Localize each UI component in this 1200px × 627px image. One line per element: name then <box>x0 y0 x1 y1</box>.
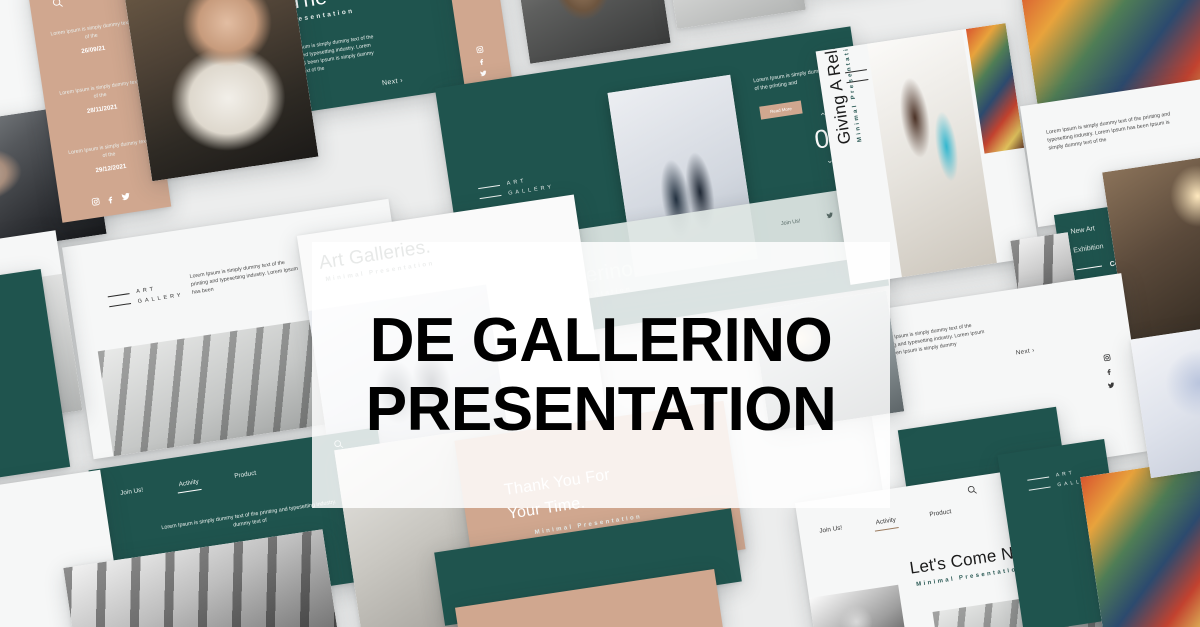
logo-line-1: ART <box>136 286 157 295</box>
social-links[interactable] <box>476 46 488 78</box>
logo-line-1: ART <box>506 178 527 187</box>
logo-rule <box>109 302 131 306</box>
twitter-icon <box>1107 381 1115 389</box>
logo-line-1: ART <box>1056 470 1076 479</box>
timeline-entry: Lorem Ipsum is simply dummy text of the … <box>57 78 144 119</box>
search-icon[interactable] <box>51 0 64 9</box>
slide-photo-bust[interactable] <box>511 0 670 64</box>
logo-art-gallery: ART GALLERY <box>107 282 184 309</box>
social-links[interactable] <box>91 192 131 207</box>
search-icon[interactable] <box>966 484 977 495</box>
nav-bar[interactable]: Join Us! Activity Product <box>120 470 257 497</box>
photo-bust-sculpture <box>511 0 670 64</box>
facebook-icon <box>1105 368 1113 376</box>
nav-item-activity[interactable]: Activity <box>875 516 896 526</box>
logo-rule <box>108 293 130 297</box>
facebook-icon <box>478 58 486 66</box>
logo-art-gallery: ART GALLERY <box>478 174 555 201</box>
twitter-icon <box>479 69 487 77</box>
active-rule <box>1076 265 1102 270</box>
title-overlay-panel: DE GALLERINO PRESENTATION <box>312 242 890 508</box>
nav-bar[interactable]: Join Us! Activity Product <box>819 508 952 535</box>
logo-rule <box>478 184 500 188</box>
logo-line-2: GALLERY <box>137 292 184 305</box>
next-arrow-icon: › <box>400 77 404 84</box>
photo-gallery-interior <box>660 0 806 29</box>
overlay-title-line-2: PRESENTATION <box>366 375 837 444</box>
timeline-entry: Lorem Ipsum is simply dummy text of the … <box>48 18 135 59</box>
slide-photo-abstract-right[interactable] <box>1130 322 1200 478</box>
next-button[interactable]: Next › <box>382 77 404 87</box>
nav-item-product[interactable]: Product <box>234 470 257 480</box>
logo-line-2: GALLERY <box>508 184 555 197</box>
photo-woman-apron <box>122 0 319 181</box>
read-more-button[interactable]: Read More <box>759 101 802 120</box>
timeline-entry: Lorem Ipsum is simply dummy text of the … <box>66 137 153 178</box>
instagram-icon <box>91 197 100 206</box>
presentation-mockup-canvas: Product Lorem Lorem Ipsum is simply dumm… <box>0 0 1200 627</box>
instagram-icon <box>1103 354 1111 362</box>
photo-abstract-artwork <box>1130 322 1200 478</box>
next-arrow-icon: › <box>1032 347 1035 354</box>
next-label: Next <box>1015 348 1030 357</box>
nav-item-join-us[interactable]: Join Us! <box>819 524 843 534</box>
twitter-icon <box>121 192 131 202</box>
social-links[interactable] <box>1103 354 1115 390</box>
slide-photo-woman-apron[interactable] <box>122 0 319 181</box>
overlay-title-line-1: DE GALLERINO <box>370 306 832 375</box>
nav-item-join-us[interactable]: Join Us! <box>781 218 801 227</box>
logo-rule <box>1029 486 1051 490</box>
nav-item-activity[interactable]: Activity <box>178 478 199 488</box>
photo-art-racks-bottom <box>1080 457 1200 627</box>
nav-item-join-us[interactable]: Join Us! <box>120 487 144 497</box>
next-label: Next <box>382 78 399 87</box>
twitter-icon <box>826 211 834 219</box>
slide-photo-racks-bottom[interactable] <box>1080 457 1200 627</box>
slide-body: Lorem Ipsum is simply dummy text of the … <box>1046 108 1188 153</box>
slide-body: Lorem Ipsum is simply dummy text of the … <box>189 256 303 297</box>
facebook-icon <box>106 194 115 203</box>
instagram-icon <box>476 46 484 54</box>
logo-rule <box>480 194 502 198</box>
logo-rule <box>1027 476 1049 480</box>
next-button[interactable]: Next › <box>1015 347 1035 357</box>
slide-photo-gallery-grey[interactable] <box>660 0 806 29</box>
nav-item-product[interactable]: Product <box>929 508 952 518</box>
photo-bw-person <box>809 585 909 627</box>
